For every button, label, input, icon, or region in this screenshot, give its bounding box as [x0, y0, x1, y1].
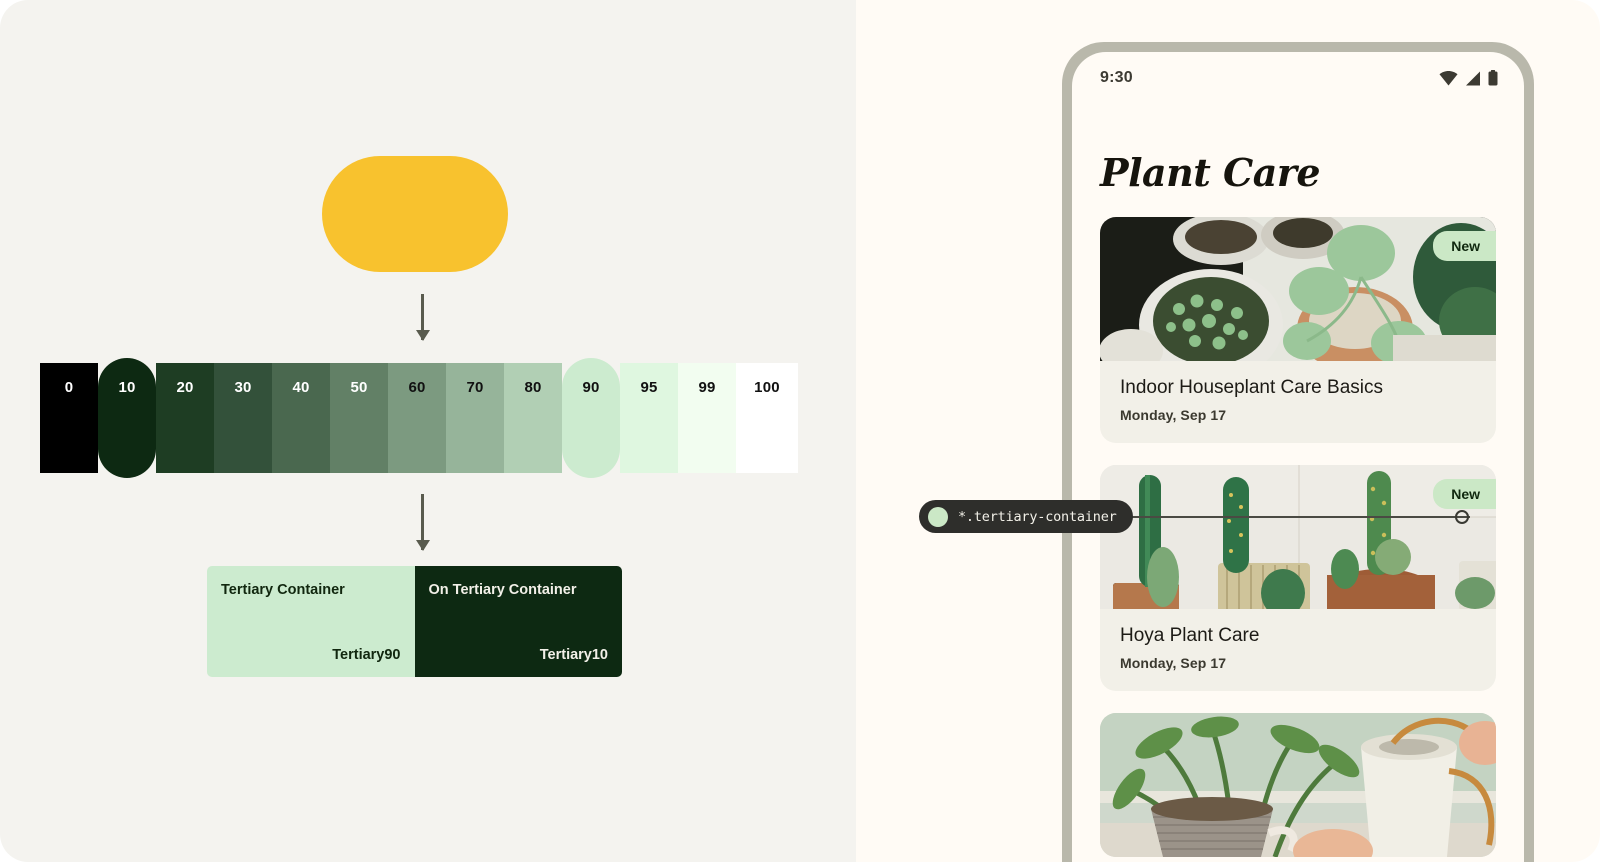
tonal-palette: 01020304050607080909599100	[40, 363, 798, 473]
article-card[interactable]	[1100, 713, 1496, 857]
role-swatch-name: Tertiary Container	[221, 582, 401, 599]
arrow-down-to-palette-icon	[421, 294, 424, 340]
article-card-title: Hoya Plant Care	[1120, 624, 1476, 648]
article-card-list: NewIndoor Houseplant Care BasicsMonday, …	[1072, 217, 1524, 857]
tone-swatch-60[interactable]: 60	[388, 363, 446, 473]
status-icons	[1439, 70, 1498, 86]
role-swatch-group: Tertiary ContainerTertiary90On Tertiary …	[207, 566, 622, 677]
tone-swatch-label: 10	[118, 380, 135, 478]
role-swatch-name: On Tertiary Container	[429, 582, 609, 599]
tone-swatch-label: 90	[582, 380, 599, 478]
article-card-title: Indoor Houseplant Care Basics	[1120, 376, 1476, 400]
inspector-color-swatch-icon	[928, 507, 948, 527]
tone-swatch-label: 99	[698, 380, 715, 473]
tone-swatch-95[interactable]: 95	[620, 363, 678, 473]
tone-swatch-label: 80	[524, 380, 541, 473]
page-title: Plant Care	[1072, 104, 1524, 217]
tone-swatch-20[interactable]: 20	[156, 363, 214, 473]
arrow-down-to-roles-icon	[421, 494, 424, 550]
inspector-token-chip[interactable]: *.tertiary-container	[919, 500, 1133, 533]
article-card-body: Indoor Houseplant Care BasicsMonday, Sep…	[1100, 361, 1496, 443]
tone-swatch-40[interactable]: 40	[272, 363, 330, 473]
article-card-date: Monday, Sep 17	[1120, 655, 1476, 671]
tone-swatch-label: 50	[350, 380, 367, 473]
cellular-signal-icon	[1465, 71, 1481, 86]
tone-swatch-0[interactable]: 0	[40, 363, 98, 473]
battery-icon	[1488, 70, 1498, 86]
role-swatch[interactable]: Tertiary ContainerTertiary90	[207, 566, 415, 677]
status-badge: New	[1433, 231, 1496, 261]
tone-swatch-90[interactable]: 90	[562, 358, 620, 478]
article-card-body: Hoya Plant CareMonday, Sep 17	[1100, 609, 1496, 691]
tone-swatch-70[interactable]: 70	[446, 363, 504, 473]
color-system-panel: 01020304050607080909599100 Tertiary Cont…	[0, 0, 856, 862]
tone-swatch-80[interactable]: 80	[504, 363, 562, 473]
inspector-token-label: *.tertiary-container	[958, 509, 1117, 525]
tone-swatch-label: 0	[65, 380, 74, 473]
tone-swatch-label: 20	[176, 380, 193, 473]
tone-swatch-label: 60	[408, 380, 425, 473]
tone-swatch-label: 95	[640, 380, 657, 473]
status-bar: 9:30	[1072, 52, 1524, 104]
role-swatch[interactable]: On Tertiary ContainerTertiary10	[415, 566, 623, 677]
app-screenshot: 01020304050607080909599100 Tertiary Cont…	[0, 0, 1600, 862]
tone-swatch-50[interactable]: 50	[330, 363, 388, 473]
status-badge: New	[1433, 479, 1496, 509]
article-card[interactable]: NewIndoor Houseplant Care BasicsMonday, …	[1100, 217, 1496, 443]
phone-screen: 9:30 Plant Care NewIndoor Ho	[1072, 52, 1524, 862]
article-card[interactable]: NewHoya Plant CareMonday, Sep 17	[1100, 465, 1496, 691]
seed-color-swatch[interactable]	[322, 156, 508, 272]
tone-swatch-100[interactable]: 100	[736, 363, 798, 473]
inspector-cursor-icon	[1455, 510, 1469, 524]
tone-swatch-label: 100	[754, 380, 780, 473]
phone-frame: 9:30 Plant Care NewIndoor Ho	[1062, 42, 1534, 862]
tone-swatch-label: 30	[234, 380, 251, 473]
role-swatch-tone-label: Tertiary10	[540, 647, 608, 663]
tone-swatch-99[interactable]: 99	[678, 363, 736, 473]
tone-swatch-30[interactable]: 30	[214, 363, 272, 473]
wifi-icon	[1439, 71, 1458, 86]
status-time: 9:30	[1100, 69, 1133, 87]
role-swatch-tone-label: Tertiary90	[332, 647, 400, 663]
article-card-image	[1100, 713, 1496, 857]
tone-swatch-label: 70	[466, 380, 483, 473]
tone-swatch-10[interactable]: 10	[98, 358, 156, 478]
device-preview-panel: 9:30 Plant Care NewIndoor Ho	[856, 0, 1600, 862]
article-card-date: Monday, Sep 17	[1120, 407, 1476, 423]
tone-swatch-label: 40	[292, 380, 309, 473]
